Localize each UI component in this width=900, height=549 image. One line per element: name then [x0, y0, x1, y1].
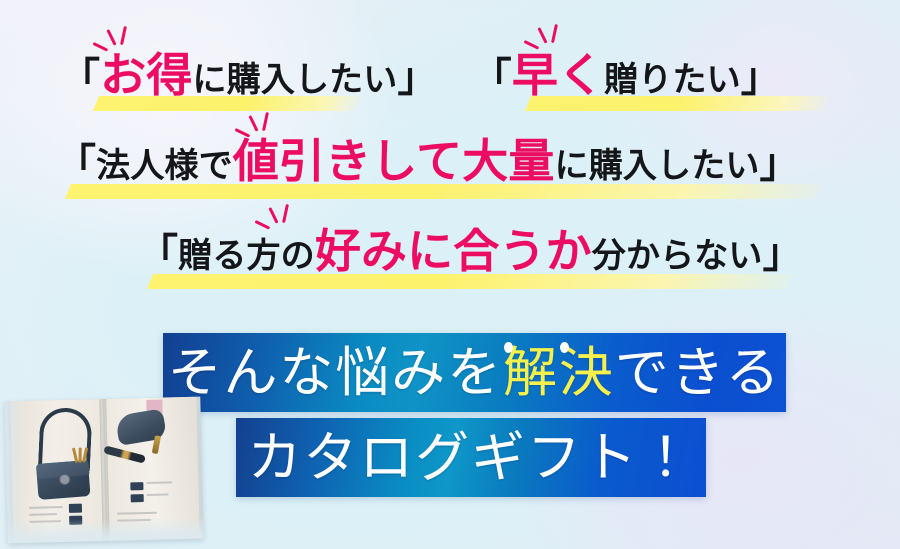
catalog-photo	[4, 397, 203, 544]
pain-point-line-3: 「贈る方の好みに合うか分からない」	[138, 228, 803, 274]
open-bracket: 「	[138, 232, 178, 276]
pain-point-quote-2: 「法人様で値引きして大量に購入したい」	[56, 164, 800, 181]
background-glow-bottom-right	[500, 279, 900, 549]
solution-band-secondary-text: カタログギフト！	[247, 431, 694, 485]
solution-suffix: できる	[615, 343, 782, 403]
promo-banner: 「お得に購入したい」「早く贈りたい」 「法人様で値引きして大量に購入したい」 「…	[0, 0, 900, 549]
pain-point-quote-1: 「お得に購入したい」「早く贈りたい」	[60, 78, 781, 95]
pain-point-line-2: 「法人様で値引きして大量に購入したい」	[56, 138, 800, 184]
photo-fade-left	[4, 401, 23, 543]
pain-point-rest: 贈りたい	[604, 61, 741, 99]
pain-point-rest: に購入したい	[555, 147, 760, 185]
solution-band-primary: そんな悩みを解決できる	[163, 333, 786, 412]
color-swatch	[130, 482, 143, 490]
color-swatch	[69, 504, 82, 513]
solution-accent: 解決	[503, 343, 615, 403]
pain-point-rest: に購入したい	[193, 61, 398, 99]
pain-point-rest: 分からない	[592, 237, 763, 275]
open-bracket: 「	[472, 56, 512, 100]
pain-point-emphasis: 値引きして大量	[233, 135, 555, 187]
pain-point-quote-3: 「贈る方の好みに合うか分からない」	[138, 254, 803, 271]
pain-point-emphasis: 好みに合うか	[315, 225, 592, 277]
close-bracket: 」	[397, 56, 437, 100]
pain-point-emphasis: お得	[100, 49, 192, 101]
color-swatch	[131, 494, 144, 502]
pain-point-lead: 法人様で	[96, 147, 233, 185]
pain-point-emphasis: 早く	[512, 49, 604, 101]
solution-prefix: そんな悩みを	[168, 343, 503, 403]
close-bracket: 」	[760, 142, 800, 186]
close-bracket: 」	[741, 56, 781, 100]
pain-point-line-1: 「お得に購入したい」「早く贈りたい」	[60, 52, 781, 98]
close-bracket: 」	[763, 232, 803, 276]
solution-band-secondary: カタログギフト！	[236, 418, 706, 497]
open-bracket: 「	[56, 142, 96, 186]
key-holder	[71, 447, 87, 463]
pain-point-lead: 贈る方の	[178, 237, 315, 275]
open-bracket: 「	[60, 56, 100, 100]
solution-band-primary-text: そんな悩みを解決できる	[168, 346, 782, 400]
